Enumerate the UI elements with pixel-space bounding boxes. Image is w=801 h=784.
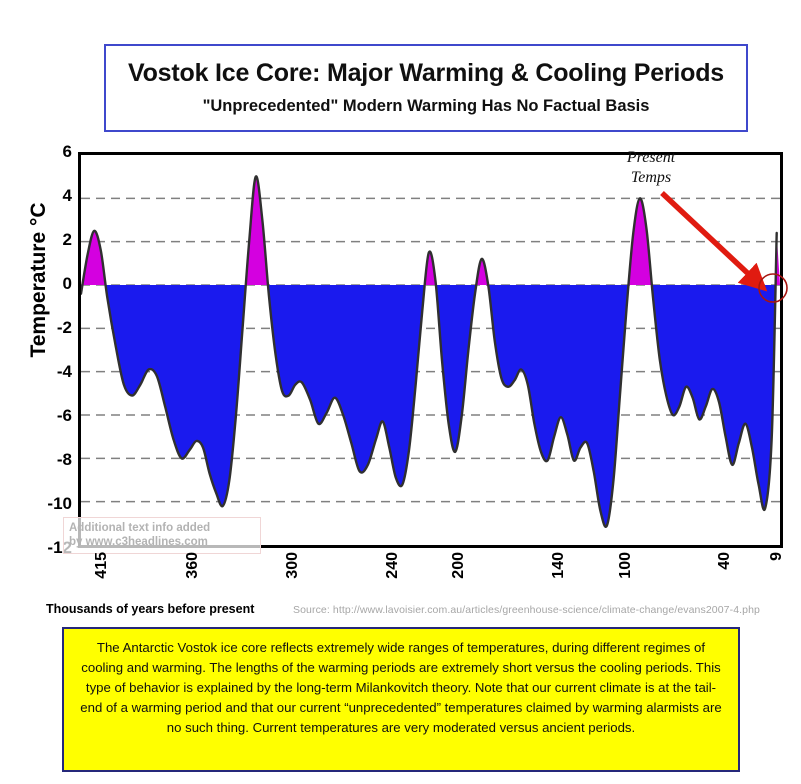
x-tick-label: 300 xyxy=(284,552,302,579)
temperature-series xyxy=(81,176,780,526)
y-tick-label: 2 xyxy=(34,231,72,248)
x-tick-label: 9 xyxy=(768,552,786,561)
present-temps-annotation: Present Temps xyxy=(596,148,706,188)
source-note: Source: http://www.lavoisier.com.au/arti… xyxy=(293,604,760,616)
watermark: Additional text info added by www.c3head… xyxy=(63,517,261,554)
x-tick-label: 100 xyxy=(617,552,635,579)
plot-area xyxy=(78,152,783,548)
y-tick-label: -8 xyxy=(34,451,72,468)
page-title: Vostok Ice Core: Major Warming & Cooling… xyxy=(128,60,724,88)
caption-box: The Antarctic Vostok ice core reflects e… xyxy=(62,627,740,772)
x-tick-label: 240 xyxy=(384,552,402,579)
chart-svg xyxy=(81,155,780,545)
y-tick-label: -6 xyxy=(34,407,72,424)
area-below-zero xyxy=(81,176,780,526)
x-tick-label: 360 xyxy=(184,552,202,579)
x-axis-tick-labels: 415360300240200140100409 xyxy=(78,552,783,604)
y-tick-label: -2 xyxy=(34,319,72,336)
y-tick-label: 0 xyxy=(34,275,72,292)
y-tick-label: -10 xyxy=(34,495,72,512)
watermark-line-2: by www.c3headlines.com xyxy=(69,535,255,549)
page-subtitle: "Unprecedented" Modern Warming Has No Fa… xyxy=(203,97,650,116)
y-axis-tick-labels: 6420-2-4-6-8-10-12 xyxy=(22,152,72,548)
x-tick-label: 40 xyxy=(716,552,734,570)
x-axis-title: Thousands of years before present xyxy=(46,602,254,616)
title-box: Vostok Ice Core: Major Warming & Cooling… xyxy=(104,44,748,132)
caption-text: The Antarctic Vostok ice core reflects e… xyxy=(80,640,721,735)
x-tick-label: 140 xyxy=(550,552,568,579)
present-temps-line-2: Temps xyxy=(596,168,706,188)
chart-page: Vostok Ice Core: Major Warming & Cooling… xyxy=(0,0,801,784)
y-tick-label: 6 xyxy=(34,143,72,160)
y-tick-label: -4 xyxy=(34,363,72,380)
present-temps-line-1: Present xyxy=(596,148,706,168)
x-tick-label: 200 xyxy=(450,552,468,579)
x-tick-label: 415 xyxy=(93,552,111,579)
watermark-line-1: Additional text info added xyxy=(69,521,255,535)
y-tick-label: 4 xyxy=(34,187,72,204)
